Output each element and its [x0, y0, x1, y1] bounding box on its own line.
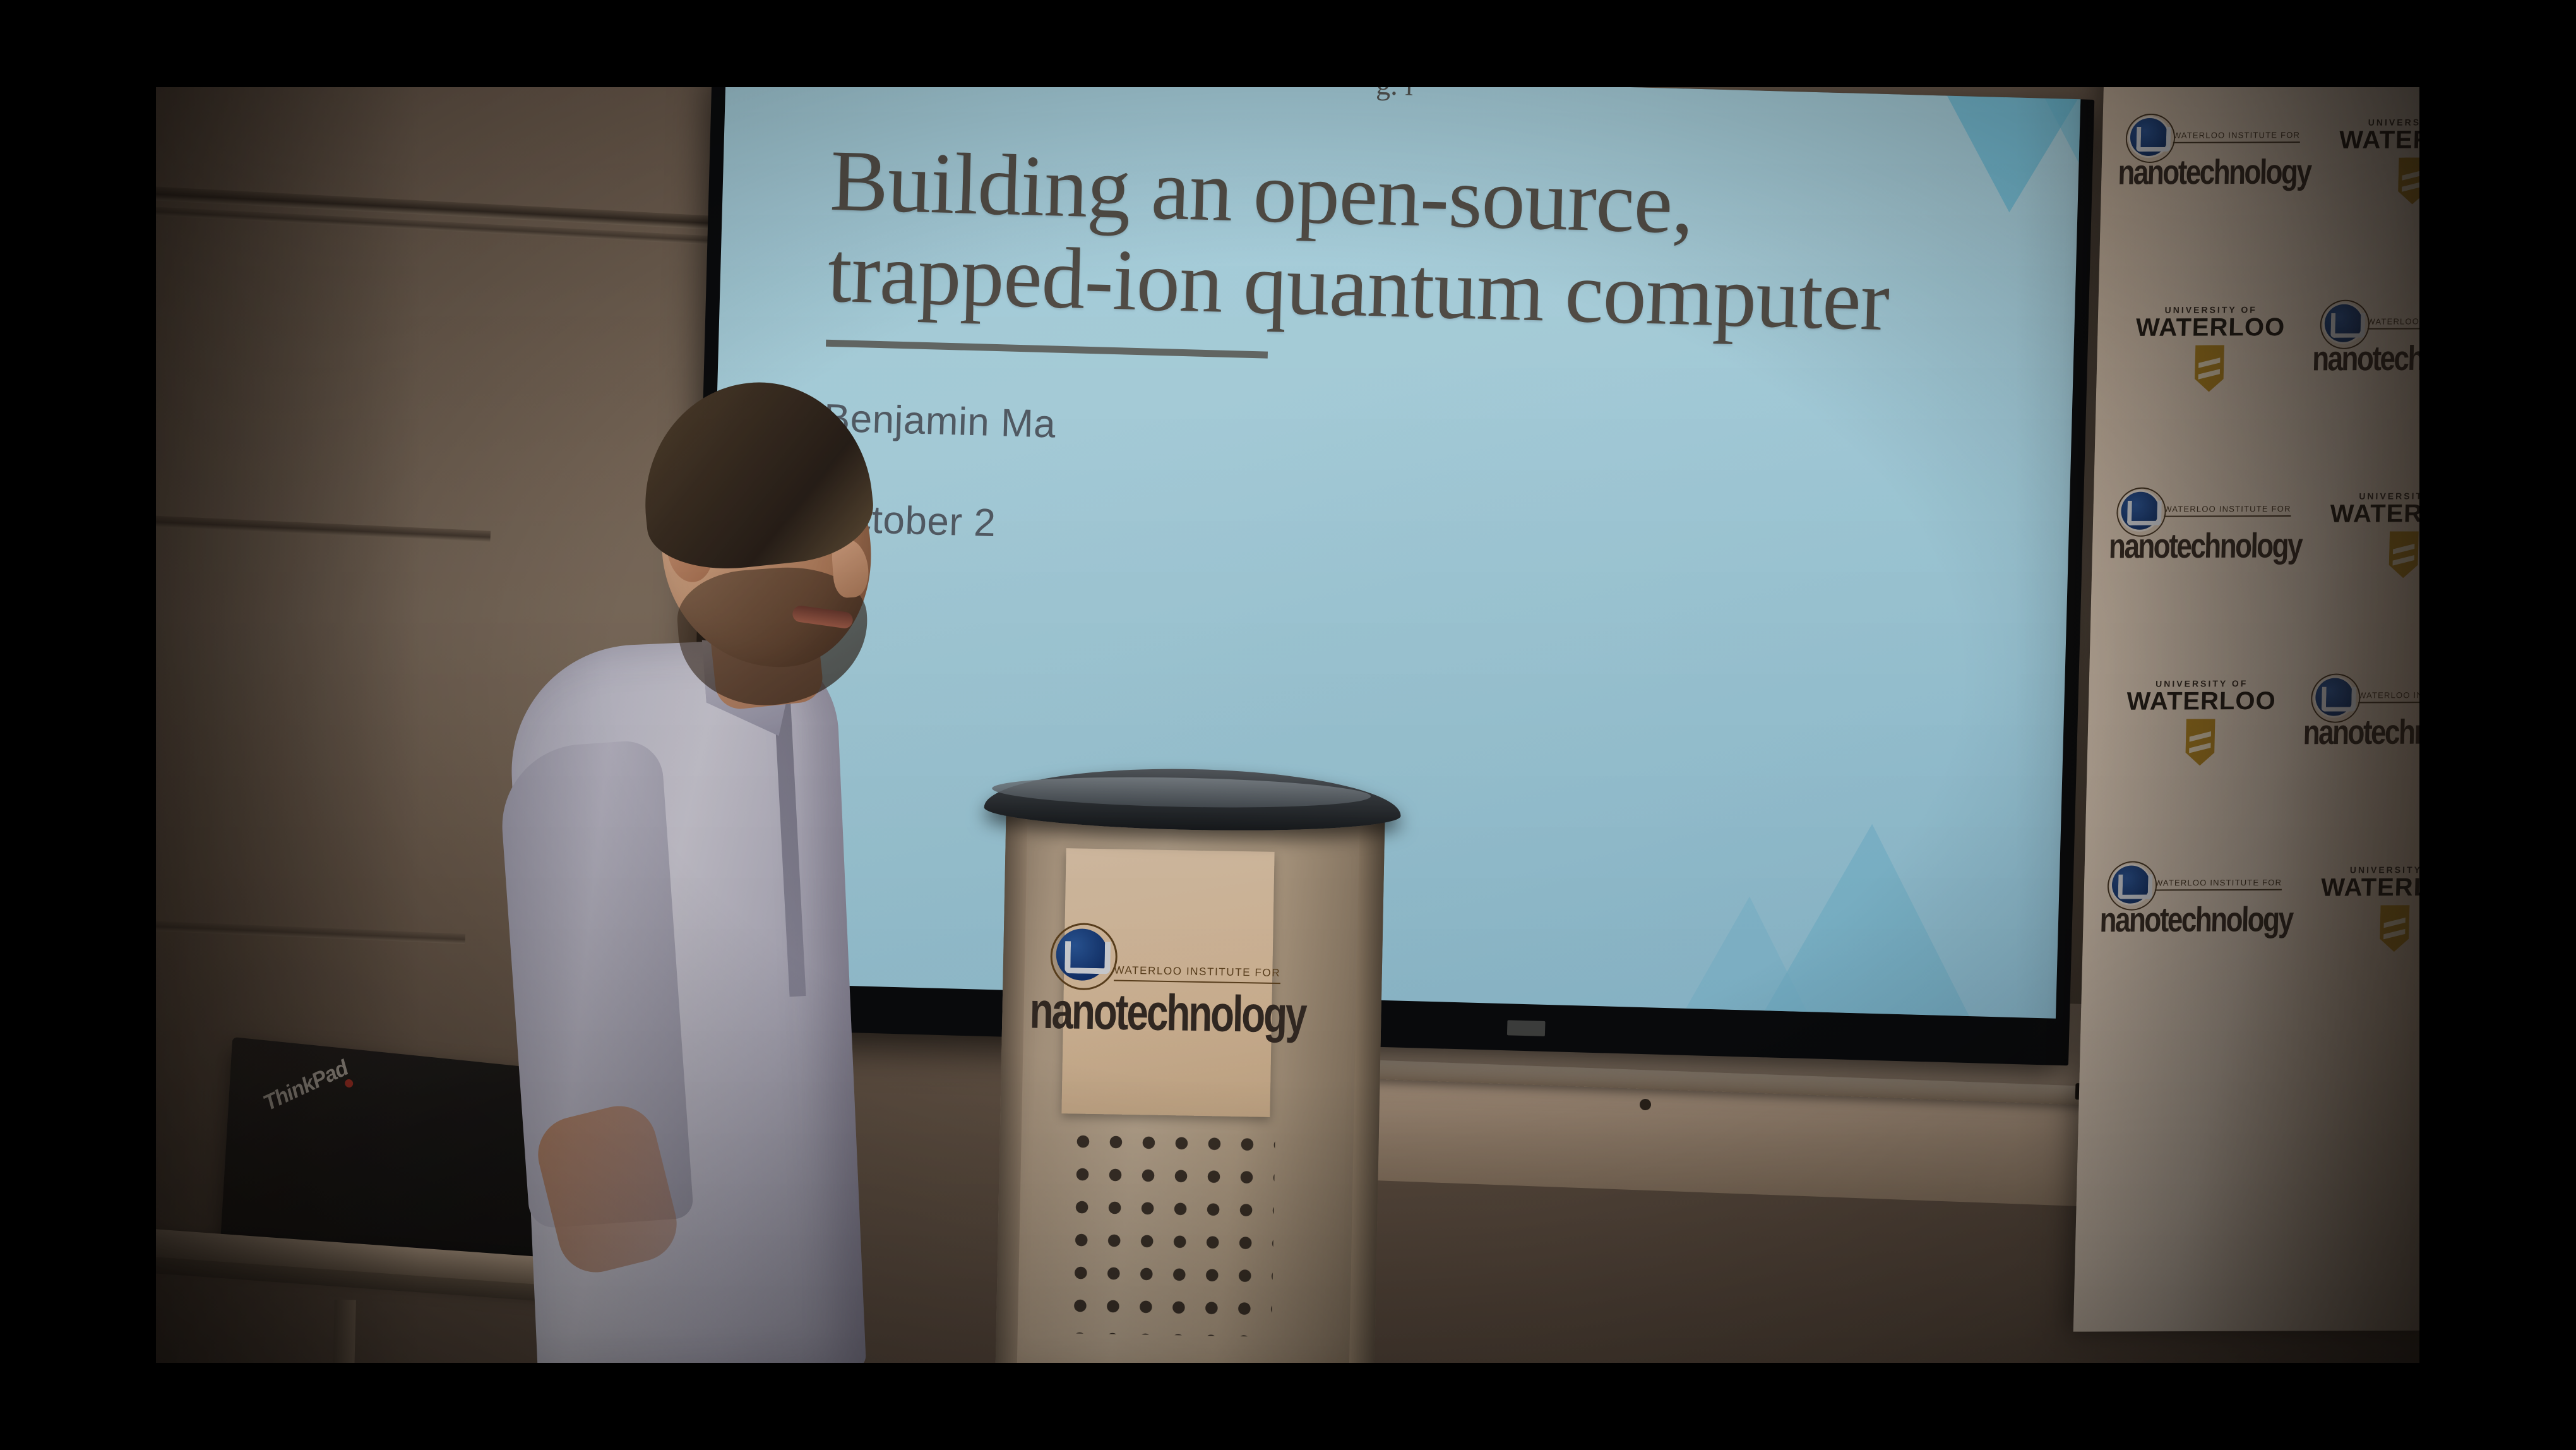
photo-left-shadow: [156, 87, 421, 1363]
screen-manufacturer-label: [1507, 1020, 1546, 1036]
podium-left-edge: [996, 811, 1028, 1363]
slide-content: Building an open-source, trapped-ion qua…: [821, 135, 2003, 573]
slide-divider-rule: [826, 339, 1268, 358]
podium-right-edge: [1349, 818, 1385, 1363]
podium-sign: WATERLOO INSTITUTE FOR nanotechnology: [1061, 848, 1274, 1117]
podium-sign-caption: WATERLOO INSTITUTE FOR: [1114, 964, 1280, 984]
presenter-person: [510, 428, 964, 1363]
slide-presenter-name: Benjamin Ma: [823, 395, 1996, 472]
presentation-photograph: g. i Building an open-source, trapped-io…: [156, 87, 2419, 1363]
podium-sign-logo-row: WATERLOO INSTITUTE FOR: [1056, 928, 1281, 983]
mountain-decoration-icon: [1686, 895, 1810, 1012]
slide-top-note: g. i: [1376, 87, 1414, 102]
slide-date: October 2: [821, 496, 1993, 572]
slide-title: Building an open-source, trapped-ion qua…: [826, 135, 2003, 350]
podium-top-face: [992, 774, 1371, 811]
lectern-podium: WATERLOO INSTITUTE FOR nanotechnology: [996, 769, 1393, 1363]
win-circle-icon: [1056, 928, 1108, 980]
photo-right-shadow: [2015, 87, 2419, 1363]
podium-sign-wordmark: nanotechnology: [1029, 981, 1306, 1045]
podium-speaker-grille: [1063, 1125, 1275, 1337]
letterboxed-photo-frame: g. i Building an open-source, trapped-io…: [0, 0, 2576, 1450]
